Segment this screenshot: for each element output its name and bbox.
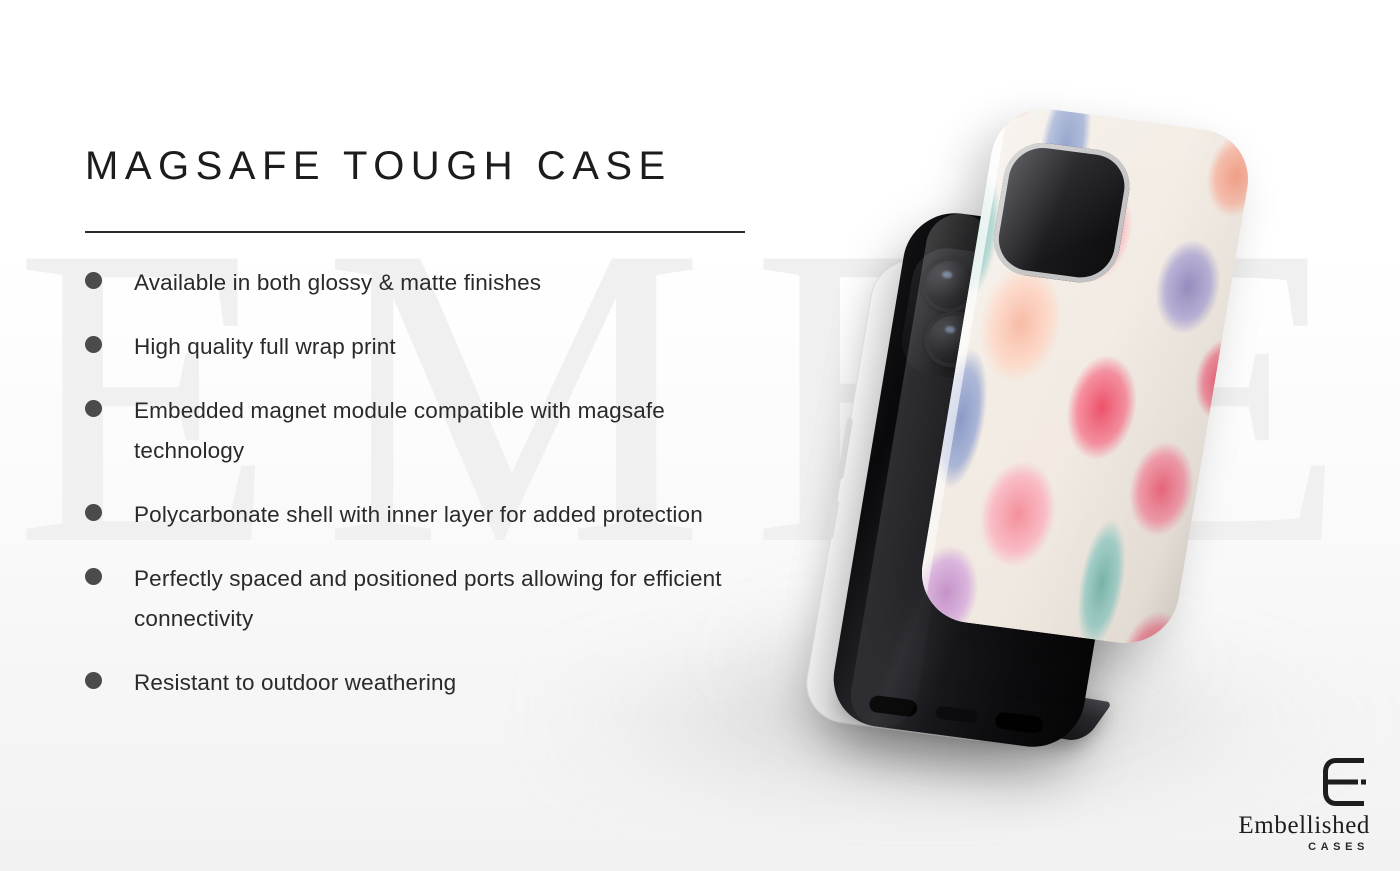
feature-text: High quality full wrap print <box>134 327 396 367</box>
brand-name: Embellished <box>1238 812 1370 840</box>
product-image <box>760 80 1380 780</box>
list-item: Available in both glossy & matte finishe… <box>85 263 765 303</box>
bullet-icon <box>85 568 102 585</box>
speaker-cutout-icon <box>994 711 1044 734</box>
bullet-icon <box>85 672 102 689</box>
case-sheen <box>914 103 1256 650</box>
feature-text: Resistant to outdoor weathering <box>134 663 456 703</box>
bullet-icon <box>85 400 102 417</box>
feature-text: Available in both glossy & matte finishe… <box>134 263 541 303</box>
title-divider <box>85 231 745 233</box>
list-item: High quality full wrap print <box>85 327 765 367</box>
feature-text: Polycarbonate shell with inner layer for… <box>134 495 703 535</box>
product-feature-banner: EMBE MAGSAFE TOUGH CASE Available in bot… <box>0 0 1400 871</box>
feature-text: Perfectly spaced and positioned ports al… <box>134 559 749 639</box>
feature-text: Embedded magnet module compatible with m… <box>134 391 749 471</box>
list-item: Polycarbonate shell with inner layer for… <box>85 495 765 535</box>
feature-panel: MAGSAFE TOUGH CASE Available in both glo… <box>85 140 765 727</box>
speaker-cutout-icon <box>868 694 918 717</box>
bullet-icon <box>85 336 102 353</box>
brand-logo: Embellished CASES <box>1238 756 1370 853</box>
volume-button-icon <box>837 418 853 480</box>
logo-monogram-icon <box>1320 756 1370 808</box>
list-item: Resistant to outdoor weathering <box>85 663 765 703</box>
bullet-icon <box>85 504 102 521</box>
page-title: MAGSAFE TOUGH CASE <box>85 140 765 192</box>
list-item: Perfectly spaced and positioned ports al… <box>85 559 765 639</box>
bullet-icon <box>85 272 102 289</box>
floral-magsafe-case <box>914 103 1256 650</box>
volume-button-icon <box>827 499 840 539</box>
charging-port-cutout-icon <box>934 705 978 723</box>
brand-tagline: CASES <box>1238 841 1370 853</box>
feature-list: Available in both glossy & matte finishe… <box>85 263 765 703</box>
list-item: Embedded magnet module compatible with m… <box>85 391 765 471</box>
